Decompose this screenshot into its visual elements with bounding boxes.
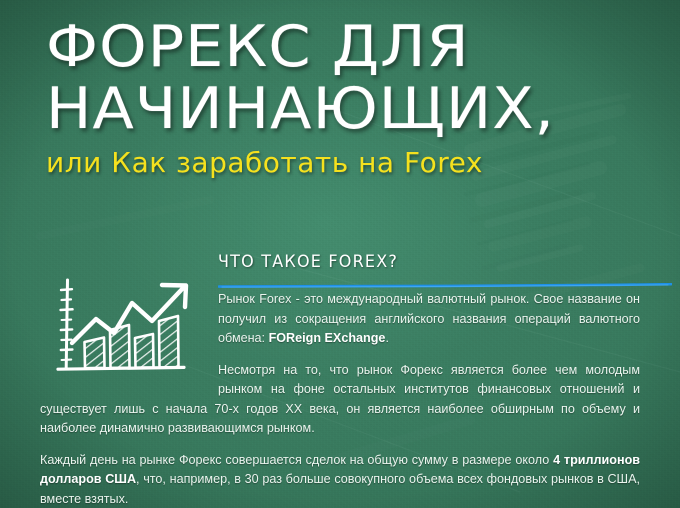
blue-chalk-underline — [218, 283, 672, 288]
foreign-exchange-emphasis: FOReign EXchange — [269, 331, 386, 345]
title-line-2: НАЧИНАЮЩИХ, — [46, 78, 680, 140]
paragraph-3-text-a: Каждый день на рынке Форекс совершается … — [40, 453, 553, 467]
body-copy: Рынок Forex - это международный валютный… — [40, 290, 640, 508]
icon-text-wrap-spacer — [40, 290, 218, 386]
paragraph-3: Каждый день на рынке Форекс совершается … — [40, 451, 640, 508]
headline-block: ФОРЕКС ДЛЯ НАЧИНАЮЩИХ, или Как заработат… — [46, 16, 646, 180]
title-line-1: ФОРЕКС ДЛЯ — [46, 16, 680, 78]
paragraph-1-text-b: . — [385, 331, 389, 345]
slide-canvas: ФОРЕКС ДЛЯ НАЧИНАЮЩИХ, или Как заработат… — [0, 0, 680, 508]
section-heading: ЧТО ТАКОЕ FOREX? — [218, 252, 398, 272]
subtitle: или Как заработать на Forex — [46, 146, 646, 180]
